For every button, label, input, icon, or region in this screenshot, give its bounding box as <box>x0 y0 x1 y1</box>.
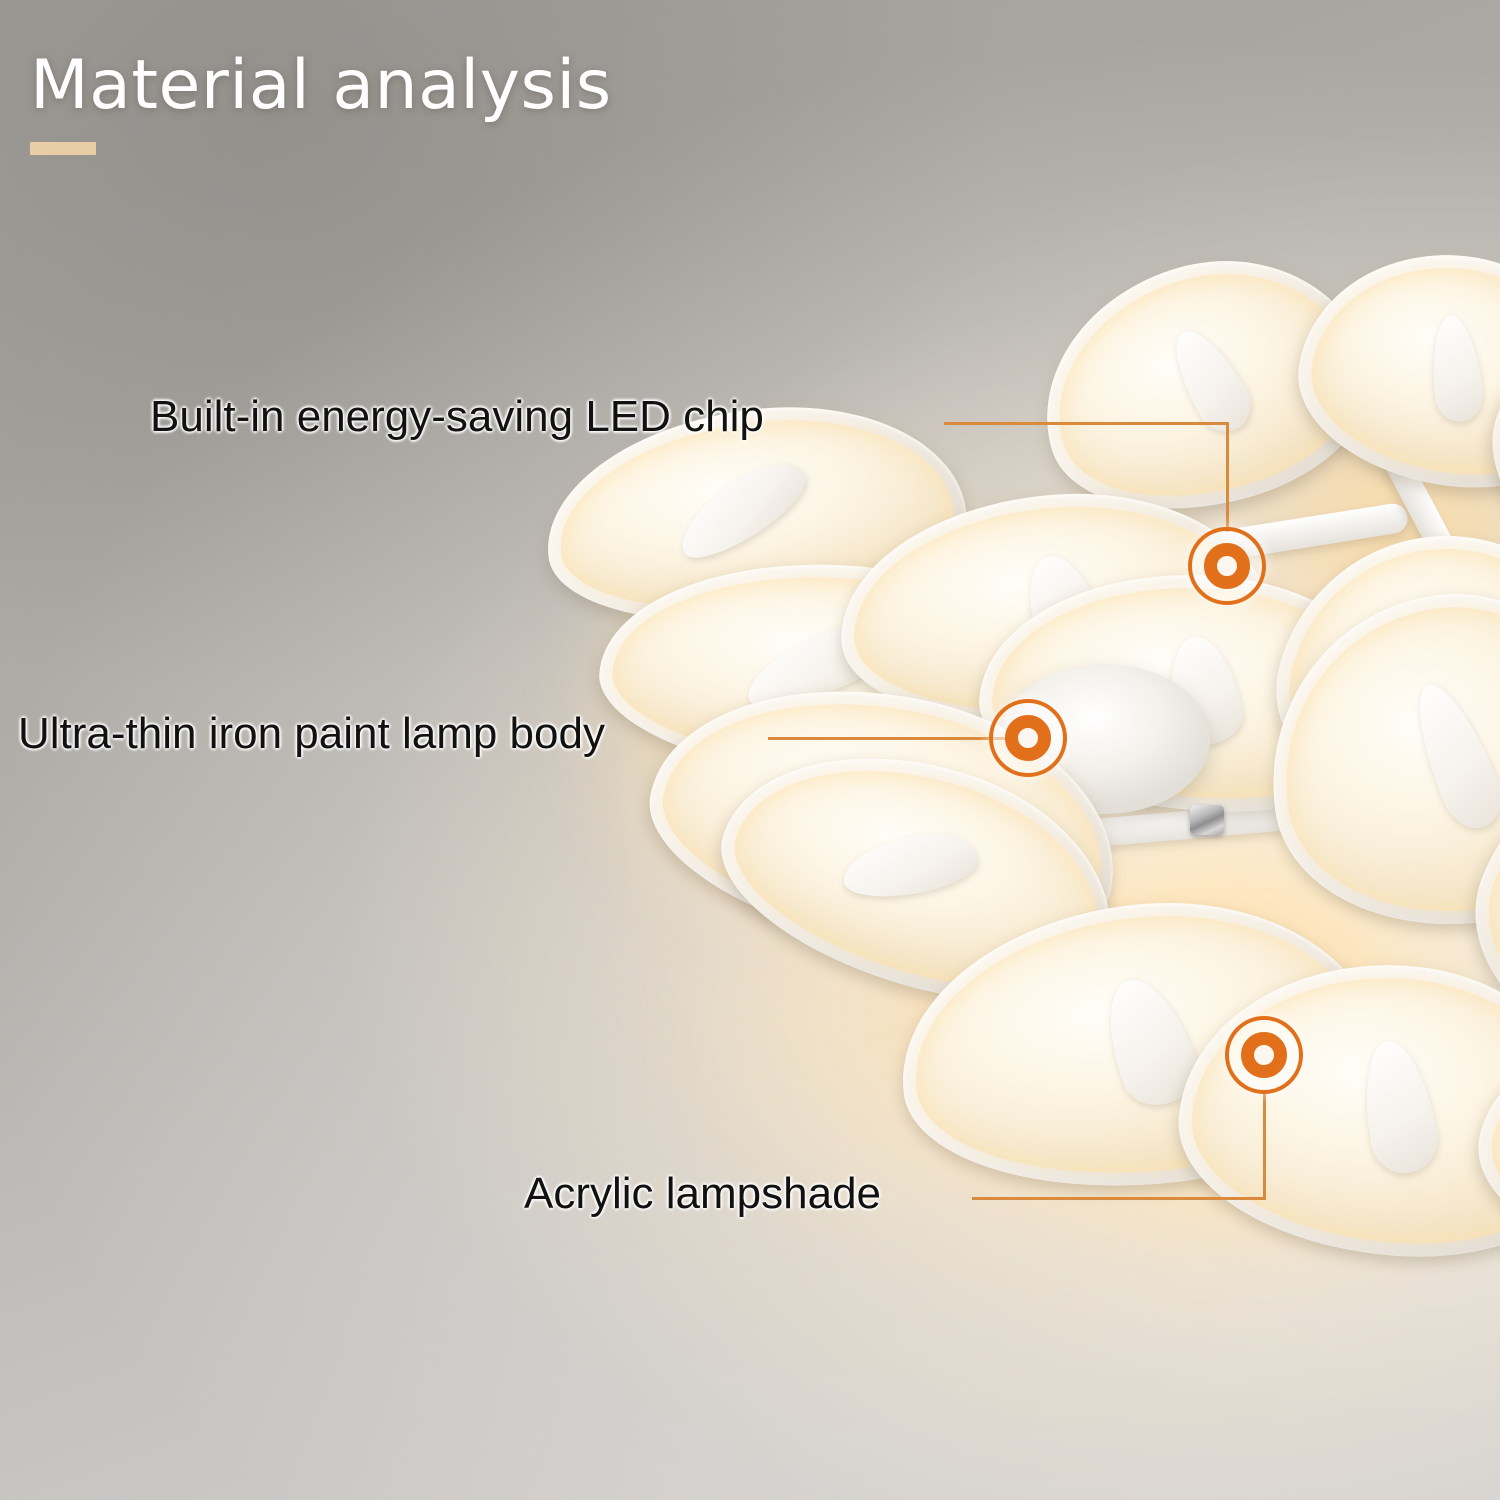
callout-marker-lampshade[interactable] <box>1225 1016 1303 1094</box>
page-title-block: Material analysis <box>30 52 612 155</box>
marker-inner-ring <box>1241 1032 1287 1078</box>
lamp-metal-connector <box>1190 805 1224 835</box>
leader-line-led-chip-vertical <box>1226 422 1229 532</box>
marker-inner-ring <box>1005 715 1051 761</box>
page-title: Material analysis <box>30 52 612 120</box>
infographic-canvas: Material analysis Built-in energy-saving… <box>0 0 1500 1500</box>
title-accent-bar <box>30 142 96 155</box>
leader-line-led-chip-horizontal <box>944 422 1229 425</box>
marker-inner-ring <box>1204 543 1250 589</box>
callout-label-lamp-body: Ultra-thin iron paint lamp body <box>18 712 605 756</box>
callout-label-led-chip: Built-in energy-saving LED chip <box>150 395 764 439</box>
leader-line-lampshade-vertical <box>1263 1092 1266 1200</box>
callout-marker-lamp-body[interactable] <box>989 699 1067 777</box>
callout-label-lampshade: Acrylic lampshade <box>524 1172 881 1216</box>
callout-marker-led-chip[interactable] <box>1188 527 1266 605</box>
leader-line-lampshade-horizontal <box>972 1197 1266 1200</box>
product-photo-petal-ceiling-lamp <box>420 205 1500 1325</box>
